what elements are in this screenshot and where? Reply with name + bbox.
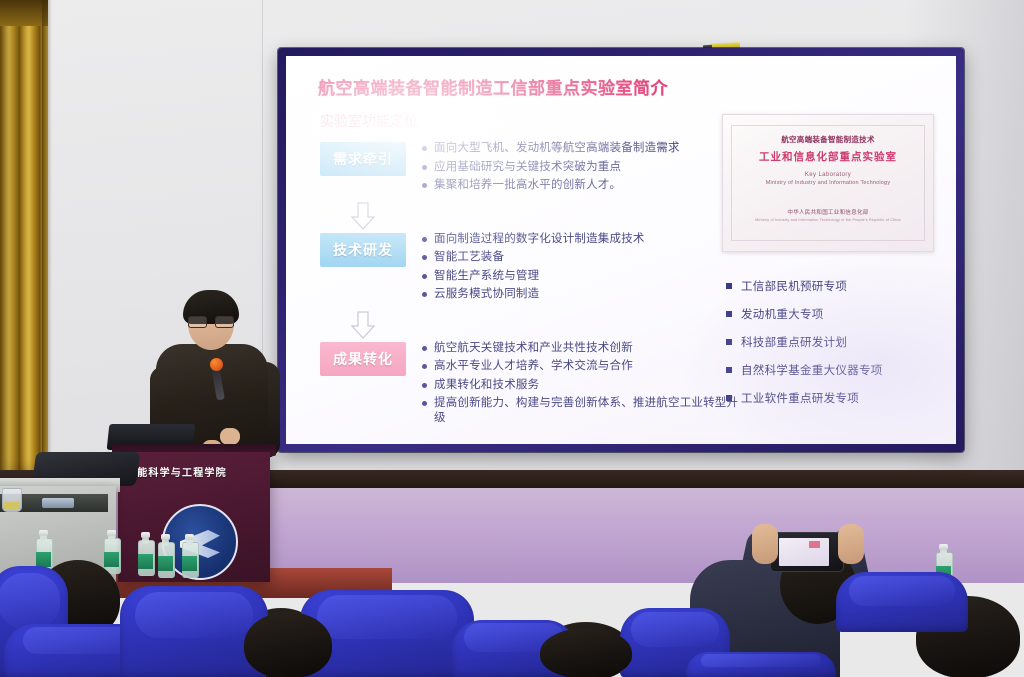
bullet-dot-icon [422,165,427,170]
projection-screen: 航空高端装备智能制造工信部重点实验室简介 实验室功能定位 需求牵引 面向大型飞机… [286,56,956,444]
flow-arrow-1 [320,201,740,231]
phone-screen [779,538,829,566]
bullet-dot-icon [422,346,427,351]
water-bottle [182,534,197,578]
square-bullet-icon [726,339,732,345]
project-text: 工信部民机预研专项 [741,278,847,294]
water-bottle [104,530,119,574]
plaque-border: 航空高端装备智能制造技术 工业和信息化部重点实验室 Key Laboratory… [731,125,925,241]
bullet-item: 云服务模式协同制造 [422,287,740,302]
bullet-dot-icon [422,255,427,260]
auditorium-seat [686,652,836,677]
bullet-item: 智能工艺装备 [422,250,740,265]
bottle-label [182,556,197,571]
bottle-cap [939,544,948,550]
project-item: 工信部民机预研专项 [726,278,946,294]
curtain-rod-valance [0,0,48,26]
bullet-item: 成果转化和技术服务 [422,378,740,393]
paper-cup [2,488,22,512]
bullet-text: 高水平专业人才培养、学术交流与合作 [434,359,633,374]
lab-certificate-plaque: 航空高端装备智能制造技术 工业和信息化部重点实验室 Key Laboratory… [722,114,934,252]
square-bullet-icon [726,283,732,289]
bullet-dot-icon [422,274,427,279]
bottle-label [104,552,119,567]
photographer-hand-right [838,524,864,564]
bullet-dot-icon [422,183,427,188]
down-arrow-icon [348,201,378,231]
bullet-item: 面向制造过程的数字化设计制造集成技术 [422,232,740,247]
photographer-hand-left [752,524,778,564]
bottle-label [138,554,153,569]
section-tag-transfer: 成果转化 [320,342,406,376]
project-text: 自然科学基金重大仪器专项 [741,362,883,378]
podium-sign-text: 智能科学与工程学院 [126,464,262,479]
bullet-item: 航空航天关键技术和产业共性技术创新 [422,341,740,356]
audience-head [244,612,332,677]
bullet-dot-icon [422,401,427,406]
project-text: 发动机重大专项 [741,306,824,322]
microphone-icon [210,358,223,371]
plaque-line-2: 工业和信息化部重点实验室 [736,149,920,164]
lecture-hall-screenshot: 航空高端装备智能制造工信部重点实验室简介 实验室功能定位 需求牵引 面向大型飞机… [0,0,1024,677]
bullet-list-demand: 面向大型飞机、发动机等航空高端装备制造需求 应用基础研究与关键技术突破为重点 集… [422,140,740,197]
bullet-dot-icon [422,383,427,388]
bullet-list-rnd: 面向制造过程的数字化设计制造集成技术 智能工艺装备 智能生产系统与管理 [422,231,740,306]
bullet-text: 成果转化和技术服务 [434,378,539,393]
project-item: 工业软件重点研发专项 [726,390,946,406]
flow-arrow-2 [320,310,740,340]
project-item: 自然科学基金重大仪器专项 [726,362,946,378]
bottle-cap [107,530,116,536]
smartphone-camera[interactable] [770,532,844,572]
project-item: 发动机重大专项 [726,306,946,322]
project-item: 科技部重点研发计划 [726,334,946,350]
plaque-line-3: Key Laboratory [736,172,920,178]
bullet-text: 提高创新能力、构建与完善创新体系、推进航空工业转型升级 [434,396,740,426]
control-panel-display [42,498,74,508]
curtain-fold-shadow [42,0,52,470]
bullet-dot-icon [422,237,427,242]
down-arrow-icon [348,310,378,340]
bullet-text: 智能工艺装备 [434,250,504,265]
plaque-line-4: Ministry of Industry and Information Tec… [736,180,920,186]
whiteboard-frame: 航空高端装备智能制造工信部重点实验室简介 实验室功能定位 需求牵引 面向大型飞机… [278,48,964,452]
bottle-label [36,552,51,567]
audience-head [540,628,632,677]
stage-curtain [0,0,48,470]
bullet-text: 集聚和培养一批高水平的创新人才。 [434,178,621,193]
bullet-item: 应用基础研究与关键技术突破为重点 [422,160,740,175]
square-bullet-icon [726,395,732,401]
water-bottle [138,532,153,576]
flow-section-demand: 需求牵引 面向大型飞机、发动机等航空高端装备制造需求 应用基础研究与关键技术突破… [320,140,740,197]
bottle-cap [39,530,48,536]
bullet-item: 高水平专业人才培养、学术交流与合作 [422,359,740,374]
bottle-label [158,556,173,571]
speaker-hand-right [220,428,240,445]
slide-title: 航空高端装备智能制造工信部重点实验室简介 [318,74,936,99]
section-tag-rnd: 技术研发 [320,233,406,267]
lab-function-flow: 需求牵引 面向大型飞机、发动机等航空高端装备制造需求 应用基础研究与关键技术突破… [320,140,740,434]
bullet-item: 面向大型飞机、发动机等航空高端装备制造需求 [422,141,740,156]
bullet-list-transfer: 航空航天关键技术和产业共性技术创新 高水平专业人才培养、学术交流与合作 成果转化… [422,340,740,430]
plaque-line-5: 中华人民共和国工业和信息化部 [736,208,920,216]
presentation-slide: 航空高端装备智能制造工信部重点实验室简介 实验室功能定位 需求牵引 面向大型飞机… [286,56,956,444]
section-tag-demand: 需求牵引 [320,142,406,176]
project-text: 工业软件重点研发专项 [741,390,859,406]
flow-section-transfer: 成果转化 航空航天关键技术和产业共性技术创新 高水平专业人才培养、学术交流与合作 [320,340,740,430]
water-bottle [158,534,173,578]
bullet-text: 面向制造过程的数字化设计制造集成技术 [434,232,645,247]
bottle-cap [161,534,170,540]
glasses-icon [188,316,234,326]
square-bullet-icon [726,311,732,317]
bullet-text: 应用基础研究与关键技术突破为重点 [434,160,621,175]
project-text: 科技部重点研发计划 [741,334,847,350]
bottle-cap [185,534,194,540]
flow-section-rnd: 技术研发 面向制造过程的数字化设计制造集成技术 智能工艺装备 [320,231,740,306]
bullet-text: 面向大型飞机、发动机等航空高端装备制造需求 [434,141,680,156]
bullet-text: 智能生产系统与管理 [434,269,539,284]
bullet-item: 智能生产系统与管理 [422,269,740,284]
plaque-line-1: 航空高端装备智能制造技术 [736,134,920,145]
bullet-text: 云服务模式协同制造 [434,287,539,302]
auditorium-seat [120,586,268,677]
bottle-cap [141,532,150,538]
auditorium-seat [836,572,968,632]
bullet-dot-icon [422,364,427,369]
plaque-line-6: Ministry of Industry and Information Tec… [736,218,920,222]
bullet-item: 提高创新能力、构建与完善创新体系、推进航空工业转型升级 [422,396,740,426]
bullet-dot-icon [422,146,427,151]
bullet-dot-icon [422,292,427,297]
bullet-text: 航空航天关键技术和产业共性技术创新 [434,341,633,356]
project-list: 工信部民机预研专项 发动机重大专项 科技部重点研发计划 自然科学基金重大仪器专项 [726,278,946,418]
bullet-item: 集聚和培养一批高水平的创新人才。 [422,178,740,193]
square-bullet-icon [726,367,732,373]
